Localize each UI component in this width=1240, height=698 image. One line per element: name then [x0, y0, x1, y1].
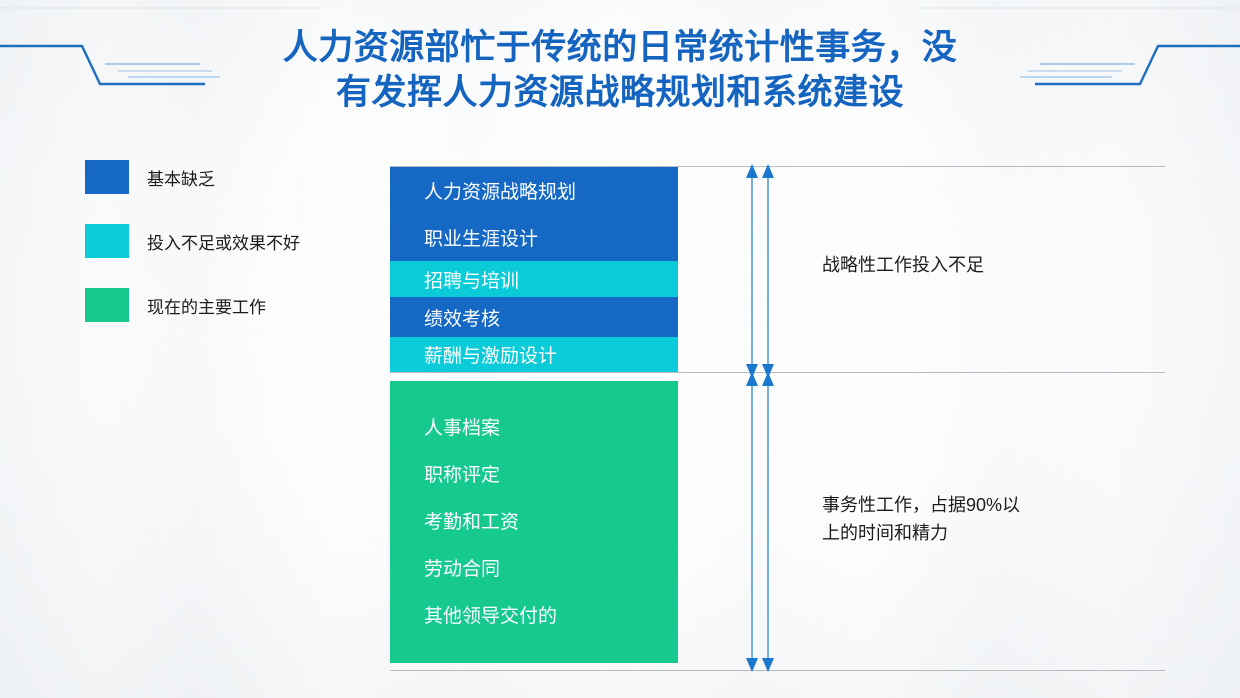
legend-item-insufficient: 投入不足或效果不好 — [85, 224, 300, 258]
bar-label-career-design: 职业生涯设计 — [424, 224, 538, 251]
slide-canvas: 人力资源部忙于传统的日常统计性事务，没 有发挥人力资源战略规划和系统建设 基本缺… — [0, 0, 1240, 698]
legend-swatch-current — [85, 288, 129, 322]
bar-label-performance-review: 绩效考核 — [424, 304, 500, 331]
ops-item-labor-contract: 劳动合同 — [424, 546, 678, 593]
gridline-bottom — [390, 670, 1165, 671]
bar-segment-hr-strategy: 人力资源战略规划 — [390, 167, 678, 214]
bar-segment-compensation-design: 薪酬与激励设计 — [390, 337, 678, 372]
bar-segment-performance-review: 绩效考核 — [390, 297, 678, 337]
ops-item-personnel-file: 人事档案 — [424, 405, 678, 452]
bar-segment-recruit-training: 招聘与培训 — [390, 261, 678, 297]
span-arrow-operational — [742, 372, 778, 672]
legend-label-current: 现在的主要工作 — [147, 293, 266, 318]
gridline-middle — [390, 372, 1165, 373]
operational-work-block: 人事档案 职称评定 考勤和工资 劳动合同 其他领导交付的 — [390, 381, 678, 663]
legend-item-deficient: 基本缺乏 — [85, 160, 300, 194]
ops-item-title-evaluation: 职称评定 — [424, 452, 678, 499]
bar-segment-career-design: 职业生涯设计 — [390, 214, 678, 261]
ops-item-attendance-salary: 考勤和工资 — [424, 499, 678, 546]
bar-label-compensation-design: 薪酬与激励设计 — [424, 341, 557, 368]
ops-item-other-assigned: 其他领导交付的 — [424, 593, 678, 640]
strategic-work-block: 人力资源战略规划 职业生涯设计 招聘与培训 绩效考核 薪酬与激励设计 — [390, 167, 678, 372]
legend-swatch-insufficient — [85, 224, 129, 258]
bar-label-recruit-training: 招聘与培训 — [424, 266, 519, 293]
legend-swatch-deficient — [85, 160, 129, 194]
annotation-operational: 事务性工作，占据90%以 上的时间和精力 — [822, 492, 1090, 548]
legend-item-current: 现在的主要工作 — [85, 288, 300, 322]
legend: 基本缺乏 投入不足或效果不好 现在的主要工作 — [85, 160, 300, 322]
annotation-strategic: 战略性工作投入不足 — [822, 252, 1122, 280]
legend-label-insufficient: 投入不足或效果不好 — [147, 229, 300, 254]
page-title: 人力资源部忙于传统的日常统计性事务，没 有发挥人力资源战略规划和系统建设 — [225, 26, 1015, 116]
span-arrow-strategic — [742, 164, 778, 378]
legend-label-deficient: 基本缺乏 — [147, 165, 215, 190]
bar-label-hr-strategy: 人力资源战略规划 — [424, 177, 576, 204]
